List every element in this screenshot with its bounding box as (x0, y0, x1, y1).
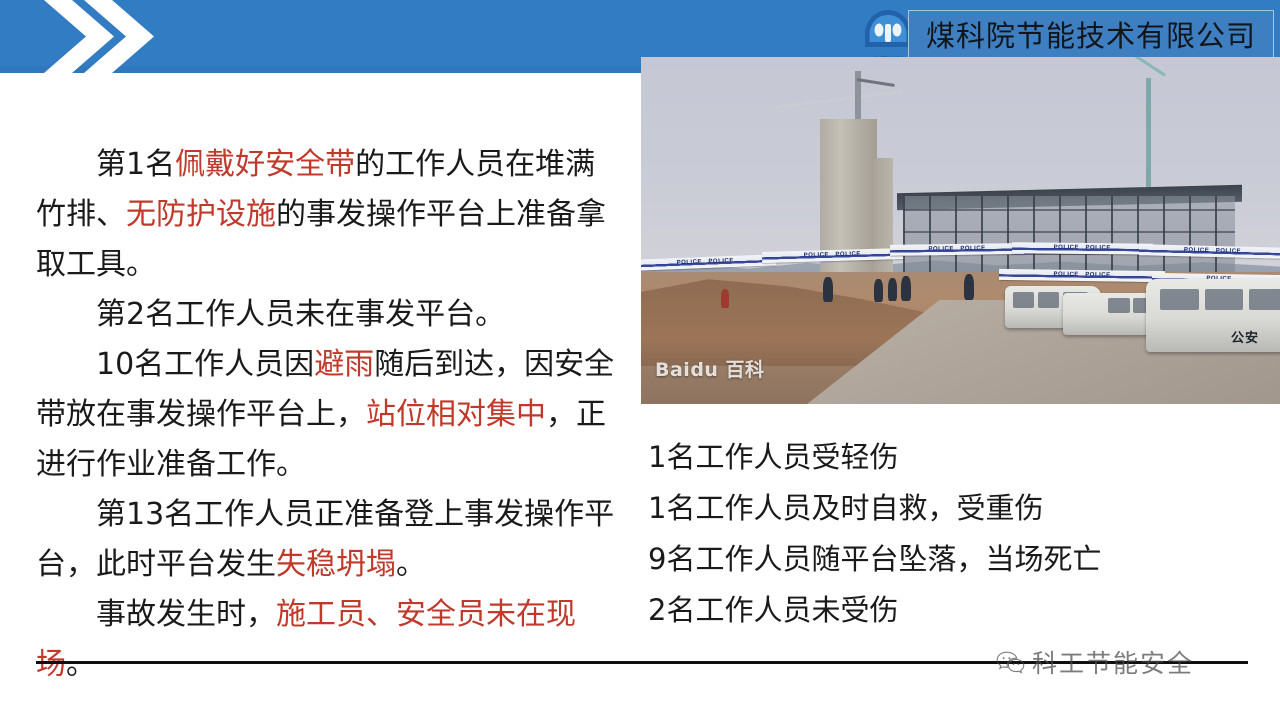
police-tape-segment: POLICE POLICE (762, 248, 903, 263)
text-run: 第2名工作人员未在事发平台。 (96, 297, 505, 332)
page-title: 煤科院节能技术有限公司 (926, 13, 1256, 55)
text-run: 事故发生时， (96, 597, 276, 632)
text-run: 。 (66, 647, 96, 682)
paragraph-4: 第13名工作人员正准备登上事发操作平台，此时平台发生失稳坍塌。 (36, 490, 616, 590)
paragraph-1: 第1名佩戴好安全带的工作人员在堆满竹排、无防护设施的事发操作平台上准备拿取工具。 (36, 140, 616, 290)
police-tape-segment: POLICE POLICE (999, 269, 1165, 282)
company-title-box: 煤科院节能技术有限公司 (908, 10, 1274, 58)
list-item: 9名工作人员随平台坠落，当场死亡 (648, 534, 1258, 585)
highlighted-phrase: 站位相对集中 (366, 397, 546, 432)
footer-watermark-text: 科工节能安全 (1032, 644, 1194, 680)
photo-police-tape: POLICE POLICE POLICE POLICE POLICE POLIC… (641, 57, 1280, 404)
accident-scene-photo: POLICE POLICE POLICE POLICE POLICE POLIC… (641, 57, 1280, 404)
double-chevron-right-icon (40, 0, 180, 73)
highlighted-phrase: 佩戴好安全带 (175, 147, 355, 182)
paragraph-2: 第2名工作人员未在事发平台。 (36, 290, 616, 340)
photo-vehicle-marking: 公安 (1231, 327, 1259, 346)
text-run: 。 (396, 547, 426, 582)
highlighted-phrase: 失稳坍塌 (276, 547, 396, 582)
list-item: 1名工作人员受轻伤 (648, 432, 1258, 483)
wechat-icon (996, 650, 1026, 674)
highlighted-phrase: 无防护设施 (126, 197, 276, 232)
text-run: 第1名 (96, 147, 175, 182)
narrative-text-column: 第1名佩戴好安全带的工作人员在堆满竹排、无防护设施的事发操作平台上准备拿取工具。… (36, 140, 616, 690)
police-tape-segment: POLICE POLICE (890, 243, 1024, 256)
casualty-list: 1名工作人员受轻伤 1名工作人员及时自救，受重伤 9名工作人员随平台坠落，当场死… (648, 432, 1258, 636)
photo-vehicle-police-car: 公安 (1146, 279, 1280, 352)
text-run: 10名工作人员因 (96, 347, 314, 382)
police-tape-segment: POLICE POLICE (1012, 242, 1153, 254)
footer-watermark: 科工节能安全 (996, 644, 1194, 680)
police-tape-segment: POLICE POLICE (641, 254, 775, 270)
photo-baidu-watermark: Baidu 百科 (655, 355, 765, 382)
slide-root: 中国煤科 煤科院节能技术有限公司 第1名佩戴好安全带的工作人员在堆满竹排、无防护… (0, 0, 1280, 720)
highlighted-phrase: 避雨 (314, 347, 374, 382)
list-item: 1名工作人员及时自救，受重伤 (648, 483, 1258, 534)
paragraph-5: 事故发生时，施工员、安全员未在现场。 (36, 590, 616, 690)
police-tape-segment: POLICE POLICE (1139, 244, 1280, 259)
paragraph-3: 10名工作人员因避雨随后到达，因安全带放在事发操作平台上，站位相对集中，正进行作… (36, 340, 616, 490)
list-item: 2名工作人员未受伤 (648, 585, 1258, 636)
